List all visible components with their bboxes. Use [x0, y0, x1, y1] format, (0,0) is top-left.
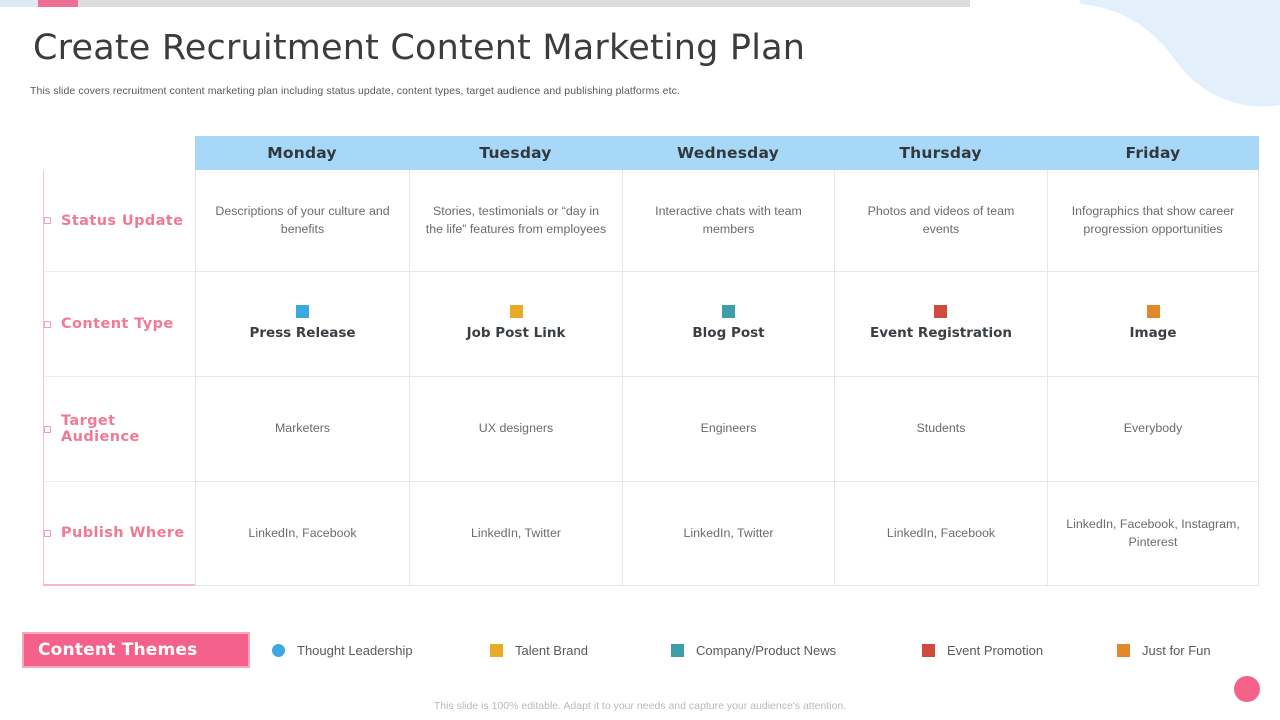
cell-content-type-wednesday: Blog Post	[622, 272, 834, 377]
legend-label: Talent Brand	[515, 643, 588, 658]
page-subtitle: This slide covers recruitment content ma…	[30, 85, 680, 97]
square-swatch-teal	[671, 644, 684, 657]
cell-publish-friday: LinkedIn, Facebook, Instagram, Pinterest	[1047, 482, 1259, 586]
square-bullet-icon	[44, 426, 51, 433]
content-type-name: Blog Post	[692, 324, 764, 344]
cell-publish-thursday: LinkedIn, Facebook	[834, 482, 1047, 586]
row-label-status-update: Status Update	[43, 170, 195, 272]
legend-label: Thought Leadership	[297, 643, 413, 658]
legend-label: Company/Product News	[696, 643, 836, 658]
square-swatch-teal	[722, 305, 735, 318]
column-header-thursday: Thursday	[834, 136, 1047, 170]
content-type-name: Image	[1129, 324, 1176, 344]
column-header-monday: Monday	[195, 136, 409, 170]
table-row: Target Audience Marketers UX designers E…	[43, 377, 1259, 482]
content-type-name: Event Registration	[870, 324, 1012, 344]
square-swatch-yellow	[490, 644, 503, 657]
content-type-name: Job Post Link	[467, 324, 566, 344]
table-row: Publish Where LinkedIn, Facebook LinkedI…	[43, 482, 1259, 586]
cell-publish-wednesday: LinkedIn, Twitter	[622, 482, 834, 586]
cell-audience-wednesday: Engineers	[622, 377, 834, 482]
cell-audience-thursday: Students	[834, 377, 1047, 482]
table-row: Content Type Press Release Job Post Link	[43, 272, 1259, 377]
square-swatch-red	[934, 305, 947, 318]
legend-label: Event Promotion	[947, 643, 1043, 658]
table-row: Status Update Descriptions of your cultu…	[43, 170, 1259, 272]
row-label-text: Status Update	[61, 213, 183, 229]
row-label-publish-where: Publish Where	[43, 482, 195, 586]
legend-item-talent-brand: Talent Brand	[490, 643, 671, 658]
cell-audience-tuesday: UX designers	[409, 377, 622, 482]
cell-content-type-friday: Image	[1047, 272, 1259, 377]
row-label-text: Content Type	[61, 316, 174, 332]
cell-status-monday: Descriptions of your culture and benefit…	[195, 170, 409, 272]
column-header-friday: Friday	[1047, 136, 1259, 170]
top-decor-segment-pink	[38, 0, 78, 7]
top-decor-segment-blue	[0, 0, 38, 7]
cell-publish-tuesday: LinkedIn, Twitter	[409, 482, 622, 586]
cell-status-thursday: Photos and videos of team events	[834, 170, 1047, 272]
wave-decor-icon	[1080, 0, 1280, 120]
square-swatch-red	[922, 644, 935, 657]
top-decor-segment-gray	[78, 0, 970, 7]
column-header-tuesday: Tuesday	[409, 136, 622, 170]
cell-status-wednesday: Interactive chats with team members	[622, 170, 834, 272]
square-swatch-yellow	[510, 305, 523, 318]
content-type-name: Press Release	[249, 324, 355, 344]
legend-item-just-for-fun: Just for Fun	[1117, 643, 1211, 658]
cell-audience-monday: Marketers	[195, 377, 409, 482]
page-title: Create Recruitment Content Marketing Pla…	[33, 28, 805, 68]
cell-audience-friday: Everybody	[1047, 377, 1259, 482]
row-label-text: Publish Where	[61, 525, 185, 541]
cell-content-type-tuesday: Job Post Link	[409, 272, 622, 377]
square-swatch-orange	[1147, 305, 1160, 318]
corner-dot-decor	[1234, 676, 1260, 702]
legend-items: Thought Leadership Talent Brand Company/…	[250, 643, 1238, 658]
cell-status-friday: Infographics that show career progressio…	[1047, 170, 1259, 272]
legend-label: Just for Fun	[1142, 643, 1211, 658]
table-body: Status Update Descriptions of your cultu…	[43, 170, 1259, 586]
legend-bar: Content Themes Thought Leadership Talent…	[22, 630, 1238, 670]
top-decor-bar	[0, 0, 970, 7]
cell-status-tuesday: Stories, testimonials or “day in the lif…	[409, 170, 622, 272]
square-swatch-orange	[1117, 644, 1130, 657]
row-label-target-audience: Target Audience	[43, 377, 195, 482]
footer-note: This slide is 100% editable. Adapt it to…	[0, 700, 1280, 712]
slide-canvas: Create Recruitment Content Marketing Pla…	[0, 0, 1280, 720]
legend-item-event-promotion: Event Promotion	[922, 643, 1117, 658]
legend-item-thought-leadership: Thought Leadership	[272, 643, 490, 658]
column-header-wednesday: Wednesday	[622, 136, 834, 170]
square-bullet-icon	[44, 321, 51, 328]
circle-swatch-blue	[272, 644, 285, 657]
content-themes-badge: Content Themes	[22, 632, 250, 668]
cell-content-type-monday: Press Release	[195, 272, 409, 377]
cell-content-type-thursday: Event Registration	[834, 272, 1047, 377]
square-swatch-blue	[296, 305, 309, 318]
square-bullet-icon	[44, 217, 51, 224]
cell-publish-monday: LinkedIn, Facebook	[195, 482, 409, 586]
legend-item-company-product-news: Company/Product News	[671, 643, 922, 658]
row-label-text: Target Audience	[61, 413, 195, 445]
square-bullet-icon	[44, 530, 51, 537]
table-header-row: Monday Tuesday Wednesday Thursday Friday	[195, 136, 1259, 170]
content-plan-table: Monday Tuesday Wednesday Thursday Friday…	[43, 136, 1259, 586]
row-label-content-type: Content Type	[43, 272, 195, 377]
